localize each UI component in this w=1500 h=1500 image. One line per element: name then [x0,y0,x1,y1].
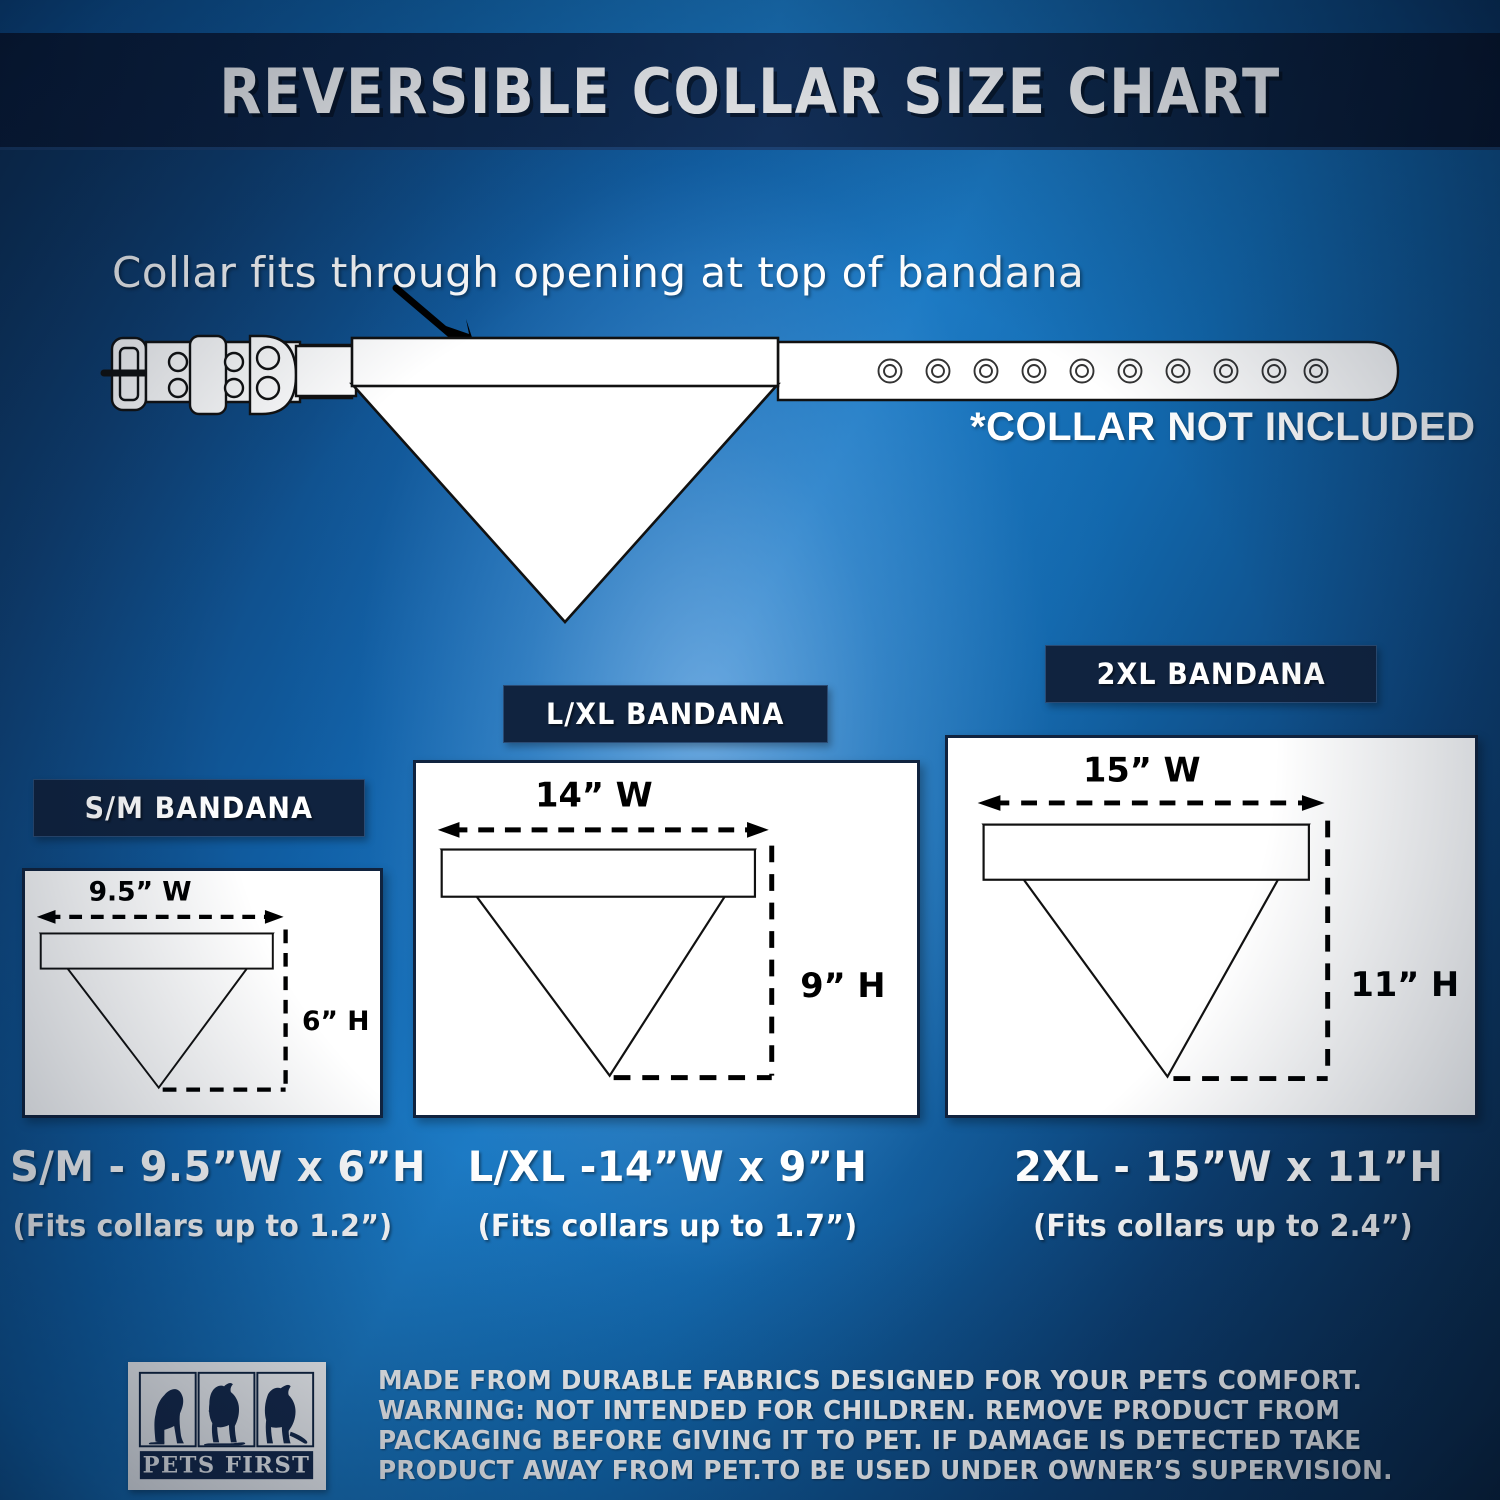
size-card-xxl: 15” W 11” H [945,735,1478,1118]
size-caption-sm: S/M - 9.5”W x 6”H (Fits collars up to 1.… [0,1142,405,1244]
bandana-diagram-sm: 9.5” W 6” H [25,871,380,1115]
width-dimension-sm [37,910,284,924]
size-caption-sub-lxl: (Fits collars up to 1.7”) [466,1209,870,1244]
height-label-sm: 6” H [302,1006,369,1037]
size-caption-lxl: L/XL -14”W x 9”H (Fits collars up to 1.7… [455,1142,880,1244]
size-caption-main-lxl: L/XL -14”W x 9”H [466,1142,870,1191]
legal-line-4: PRODUCT AWAY FROM PET.TO BE USED UNDER O… [378,1456,1372,1486]
logo-wordmark: PETS FIRST [143,1453,311,1479]
size-banner-sm: S/M BANDANA [33,779,365,837]
size-caption-sub-sm: (Fits collars up to 1.2”) [10,1209,395,1244]
bandana-collar-sleeve [352,338,778,386]
header-underline [0,147,1500,150]
legal-disclaimer: MADE FROM DURABLE FABRICS DESIGNED FOR Y… [378,1366,1372,1486]
size-caption-main-sm: S/M - 9.5”W x 6”H [10,1142,395,1191]
size-banner-lxl: L/XL BANDANA [503,685,828,743]
page-title: REVERSIBLE COLLAR SIZE CHART [219,55,1281,128]
width-dimension-lxl [438,822,769,838]
bandana-diagram-lxl: 14” W 9” H [416,763,917,1115]
width-label-sm: 9.5” W [89,876,192,907]
bandana-diagram-xxl: 15” W 11” H [948,738,1475,1115]
bandana-graphic [352,338,778,622]
width-label-xxl: 15” W [1083,750,1201,789]
size-card-lxl: 14” W 9” H [413,760,920,1118]
size-caption-main-xxl: 2XL - 15”W x 11”H [1014,1142,1432,1191]
width-dimension-xxl [978,795,1325,811]
size-card-sm: 9.5” W 6” H [22,868,383,1118]
size-caption-xxl: 2XL - 15”W x 11”H (Fits collars up to 2.… [1003,1142,1443,1244]
size-banner-xxl: 2XL BANDANA [1045,645,1377,703]
height-label-lxl: 9” H [800,966,885,1005]
size-chart-infographic: REVERSIBLE COLLAR SIZE CHART Collar fits… [0,0,1500,1500]
height-label-xxl: 11” H [1350,965,1459,1004]
legal-line-3: PACKAGING BEFORE GIVING IT TO PET. IF DA… [378,1426,1372,1456]
logo-graphic: PETS FIRST [134,1368,320,1484]
top-accent-strip [0,0,1500,33]
legal-line-1: MADE FROM DURABLE FABRICS DESIGNED FOR Y… [378,1366,1372,1396]
size-caption-sub-xxl: (Fits collars up to 2.4”) [1014,1209,1432,1244]
collar-buckle [104,336,356,414]
header-band: REVERSIBLE COLLAR SIZE CHART [0,33,1500,150]
width-label-lxl: 14” W [535,775,653,814]
legal-line-2: WARNING: NOT INTENDED FOR CHILDREN. REMO… [378,1396,1372,1426]
pets-first-logo: PETS FIRST [128,1362,326,1490]
collar-bandana-illustration [0,230,1500,650]
